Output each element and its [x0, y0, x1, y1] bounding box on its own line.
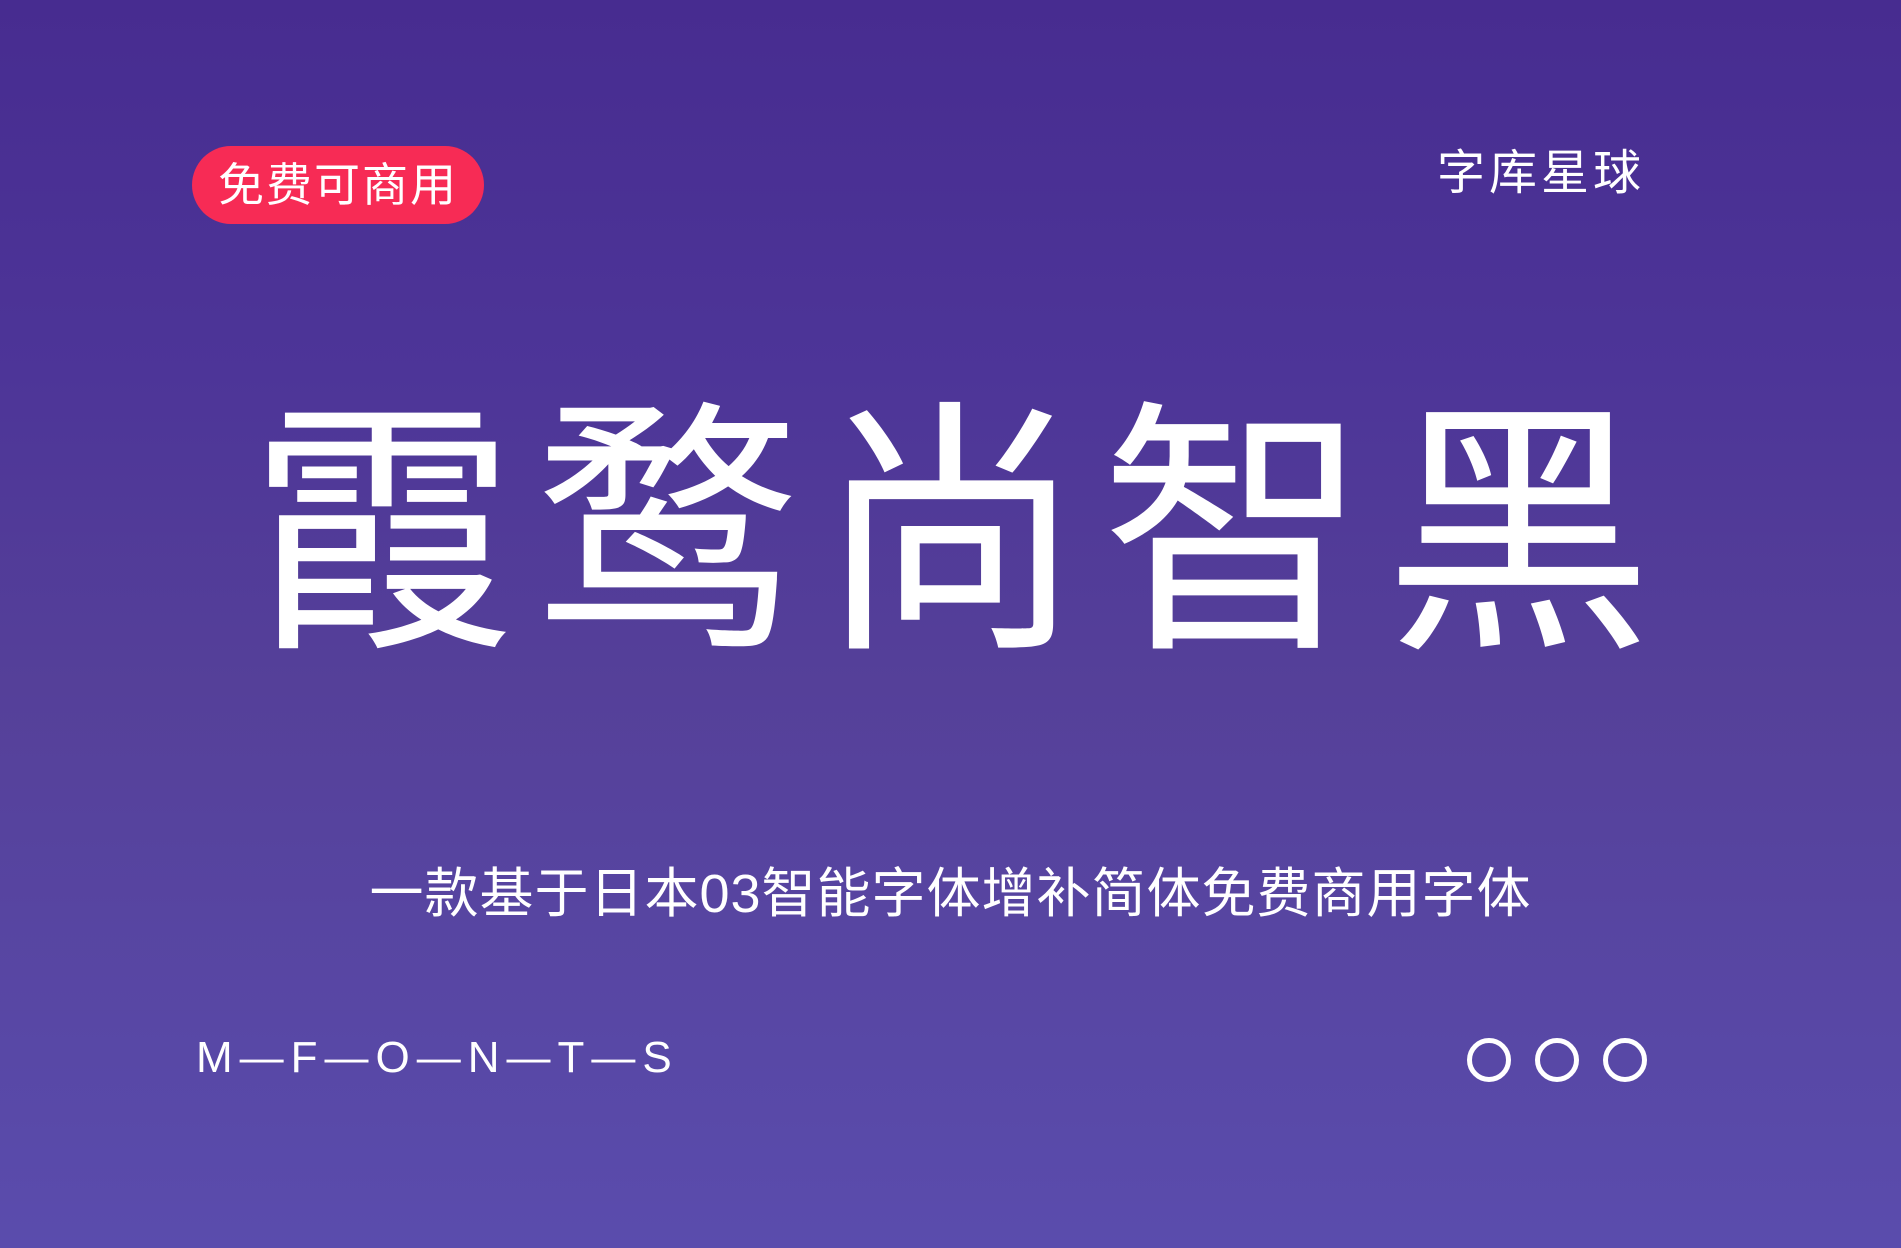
- brand-label: 字库星球: [1437, 150, 1645, 198]
- circle-icon-1: [1467, 1038, 1511, 1082]
- poster-footer: M—F—O—N—T—S: [0, 1030, 1901, 1100]
- dot-group: [1467, 1038, 1647, 1082]
- circle-icon-3: [1603, 1038, 1647, 1082]
- font-poster: 免费可商用 字库星球 霞鹜尚智黑 一款基于日本03智能字体增补简体免费商用字体 …: [0, 0, 1901, 1248]
- font-subtitle: 一款基于日本03智能字体增补简体免费商用字体: [0, 862, 1901, 927]
- free-commercial-use-badge: 免费可商用: [192, 146, 484, 224]
- poster-header: 免费可商用 字库星球: [0, 146, 1901, 228]
- font-title: 霞鹜尚智黑: [0, 392, 1901, 676]
- circle-icon-2: [1535, 1038, 1579, 1082]
- wordmark-label: M—F—O—N—T—S: [196, 1036, 679, 1080]
